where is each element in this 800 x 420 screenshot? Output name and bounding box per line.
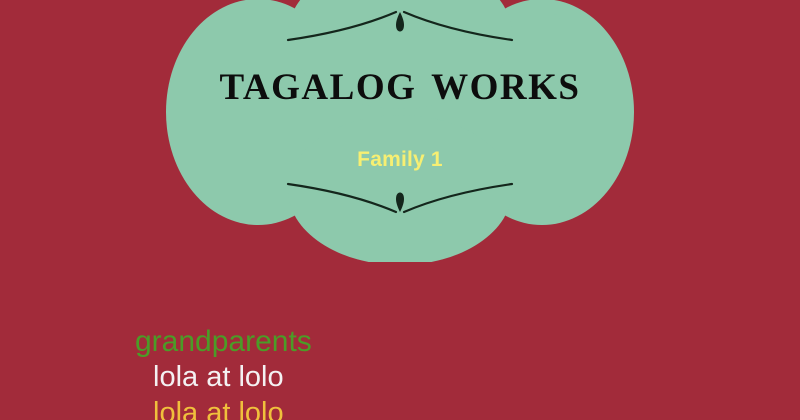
emblem-fill bbox=[166, 0, 634, 262]
vocabulary-translation-alt: lola at lolo bbox=[153, 395, 735, 420]
vocabulary-category: grandparents bbox=[135, 325, 735, 359]
vocabulary-list: grandparents lola at lolo lola at lolo bbox=[135, 325, 735, 420]
slide-canvas: Tagalog Works Family 1 grandparents lola… bbox=[0, 0, 800, 420]
decorative-emblem bbox=[0, 0, 800, 262]
emblem-svg bbox=[0, 0, 800, 262]
vocabulary-translation: lola at lolo bbox=[153, 359, 735, 395]
